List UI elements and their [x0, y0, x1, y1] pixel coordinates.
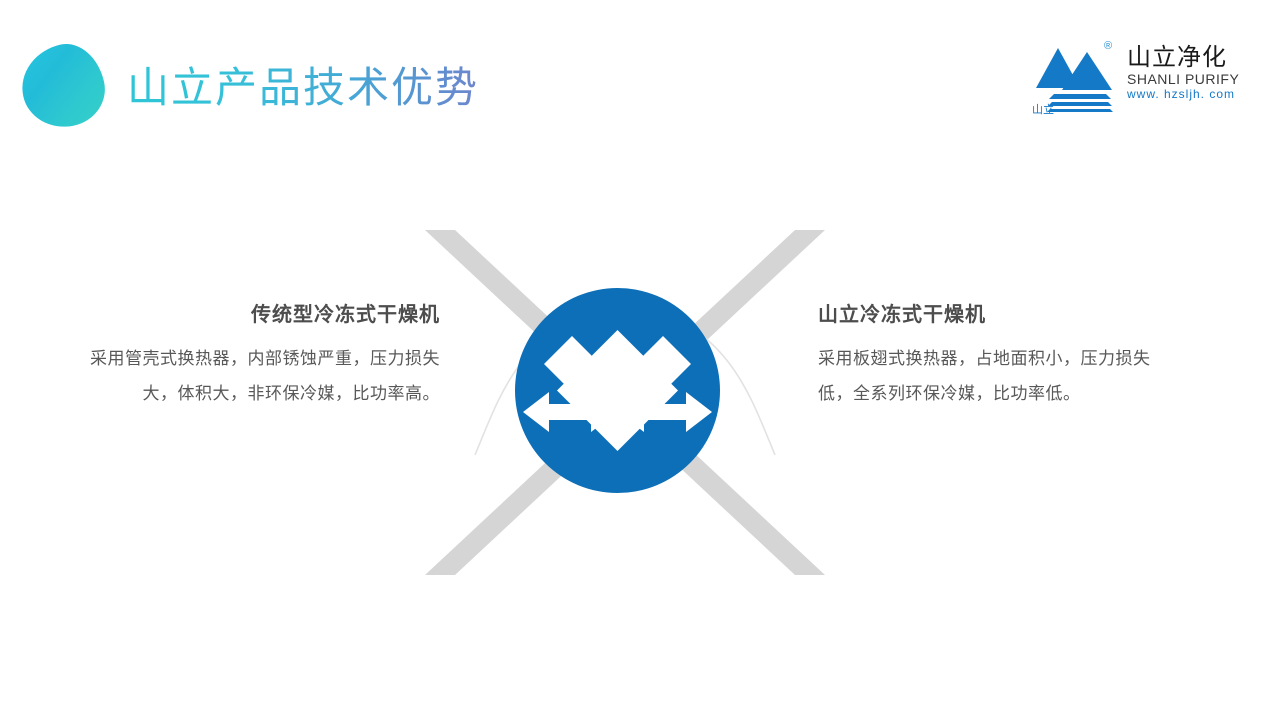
shanli-body: 采用板翅式换热器，占地面积小，压力损失低，全系列环保冷媒，比功率低。	[818, 342, 1168, 412]
comparison-block-traditional: 传统型冷冻式干燥机 采用管壳式换热器，内部锈蚀严重，压力损失大，体积大，非环保冷…	[90, 300, 440, 412]
logo-website-url: www. hzsljh. com	[1127, 87, 1262, 101]
logo-name-en: SHANLI PURIFY	[1127, 71, 1262, 87]
decorative-blob-icon	[14, 37, 111, 134]
logo-name-cn: 山立净化	[1127, 44, 1262, 71]
slide-header: 山立产品技术优势 ® 山立 山立净化 SHANLI PURIFY www. hz…	[0, 0, 1280, 150]
slide-root: 山立产品技术优势 ® 山立 山立净化 SHANLI PURIFY www. hz…	[0, 0, 1280, 720]
page-title: 山立产品技术优势	[127, 60, 479, 116]
shanli-heading: 山立冷冻式干燥机	[818, 300, 1168, 328]
traditional-body: 采用管壳式换热器，内部锈蚀严重，压力损失大，体积大，非环保冷媒，比功率高。	[90, 342, 440, 412]
company-logo: ® 山立 山立净化 SHANLI PURIFY www. hzsljh. com	[1032, 42, 1262, 122]
registered-trademark-icon: ®	[1104, 40, 1112, 52]
logo-wordmark: 山立净化 SHANLI PURIFY www. hzsljh. com	[1127, 44, 1262, 101]
traditional-heading: 传统型冷冻式干燥机	[90, 300, 440, 328]
logo-mountain-label: 山立	[1032, 104, 1054, 116]
exchange-diamond-arrows-icon	[515, 288, 720, 493]
comparison-block-shanli: 山立冷冻式干燥机 采用板翅式换热器，占地面积小，压力损失低，全系列环保冷媒，比功…	[818, 300, 1168, 412]
